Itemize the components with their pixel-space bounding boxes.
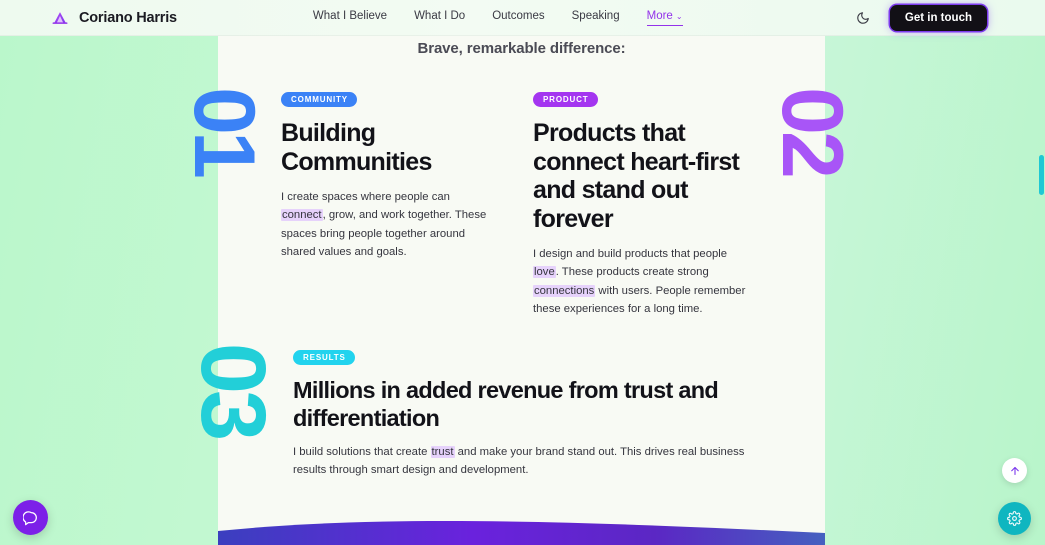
card-body-prefix: I create spaces where people can [281, 191, 450, 203]
card-number-03: 03 [187, 343, 279, 437]
card-body: I build solutions that create trust and … [293, 443, 768, 479]
header-actions: Get in touch [854, 5, 987, 31]
highlighted-word: love [533, 266, 556, 278]
gear-icon[interactable] [998, 502, 1031, 535]
nav-item-outcomes[interactable]: Outcomes [492, 10, 544, 25]
card-body-mid: . These products create strong [556, 266, 709, 278]
nav-label: What I Do [414, 10, 465, 22]
nav-label: More [647, 10, 673, 22]
brand-name: Coriano Harris [79, 10, 177, 26]
card-body-prefix: I build solutions that create [293, 446, 431, 458]
badge-product: PRODUCT [533, 92, 598, 107]
vertical-scrollbar-thumb[interactable] [1039, 155, 1044, 195]
badge-results: RESULTS [293, 350, 355, 365]
nav-label: What I Believe [313, 10, 387, 22]
main-nav: What I Believe What I Do Outcomes Speaki… [313, 10, 683, 25]
nav-item-what-i-do[interactable]: What I Do [414, 10, 465, 25]
card-body: I create spaces where people can connect… [281, 188, 496, 261]
card-number-02: 02 [769, 87, 855, 175]
app-root: Coriano Harris What I Believe What I Do … [0, 0, 1045, 545]
card-title: Building Communities [281, 119, 496, 176]
nav-label: Speaking [572, 10, 620, 22]
chevron-down-icon: ⌄ [676, 12, 683, 21]
get-in-touch-button[interactable]: Get in touch [890, 5, 987, 31]
section-title: Brave, remarkable difference: [218, 36, 825, 57]
nav-item-more[interactable]: More⌄ [647, 10, 683, 25]
nav-item-speaking[interactable]: Speaking [572, 10, 620, 25]
highlighted-word: connect [281, 209, 323, 221]
card-number-01: 01 [181, 87, 267, 175]
badge-community: COMMUNITY [281, 92, 357, 107]
moon-icon[interactable] [854, 9, 872, 27]
site-header: Coriano Harris What I Believe What I Do … [0, 0, 1045, 36]
highlighted-word-2: connections [533, 285, 595, 297]
card-title: Millions in added revenue from trust and… [293, 376, 768, 432]
card-title: Products that connect heart-first and st… [533, 119, 748, 233]
feature-card-results: RESULTS Millions in added revenue from t… [293, 347, 768, 480]
brand-link[interactable]: Coriano Harris [50, 8, 177, 28]
highlighted-word: trust [431, 446, 455, 458]
feature-card-community: COMMUNITY Building Communities I create … [281, 89, 496, 261]
nav-item-what-i-believe[interactable]: What I Believe [313, 10, 387, 25]
chat-bubble-icon[interactable] [13, 500, 48, 535]
nav-label: Outcomes [492, 10, 544, 22]
card-body: I design and build products that people … [533, 245, 748, 318]
arrow-up-icon[interactable] [1002, 458, 1027, 483]
bottom-wave-decoration [218, 505, 825, 545]
feature-card-product: PRODUCT Products that connect heart-firs… [533, 89, 748, 318]
vertical-scrollbar-track[interactable] [1039, 36, 1045, 545]
mountain-logo-icon [50, 8, 70, 28]
card-body-prefix: I design and build products that people [533, 248, 727, 260]
